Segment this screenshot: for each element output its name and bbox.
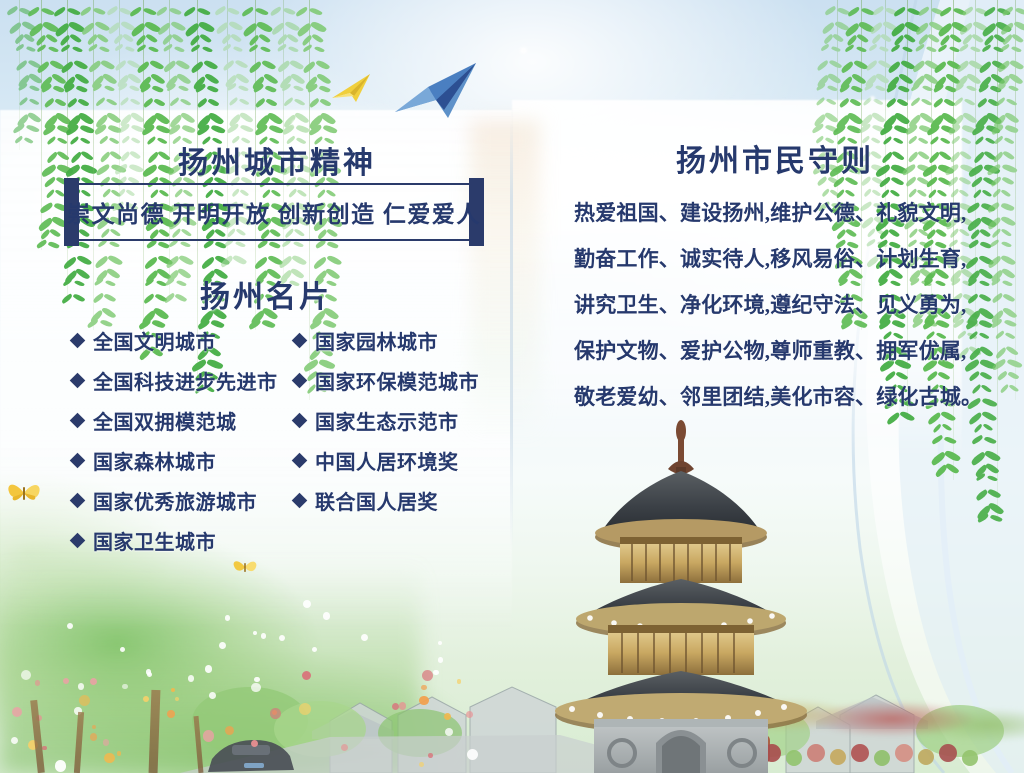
blossom xyxy=(422,670,434,682)
white-flower xyxy=(438,641,442,645)
sparkle-dot xyxy=(292,120,298,126)
white-flower xyxy=(323,612,331,620)
blossom xyxy=(419,696,428,705)
sparkle-dot xyxy=(520,47,527,54)
white-flower xyxy=(312,647,317,652)
rule-line: 讲究卫生、净化环境,遵纪守法、见义勇为, xyxy=(574,282,974,328)
blossom xyxy=(122,684,128,690)
card-item-label: 全国科技进步先进市 xyxy=(93,366,278,395)
blossom xyxy=(78,683,84,689)
cards-title: 扬州名片 xyxy=(200,272,332,316)
rules-title: 扬州市民守则 xyxy=(676,136,874,180)
rule-line: 勤奋工作、诚实待人,移风易俗、计划生育, xyxy=(574,236,974,282)
blossom xyxy=(299,703,311,715)
white-flower xyxy=(438,657,444,663)
cards-column-left: 全国文明城市全国科技进步先进市全国双拥模范城国家森林城市国家优秀旅游城市国家卫生… xyxy=(72,320,297,560)
cards-column-right: 国家园林城市国家环保模范城市国家生态示范市中国人居环境奖联合国人居奖 xyxy=(294,320,504,520)
blossom xyxy=(175,697,179,701)
card-item-label: 联合国人居奖 xyxy=(315,486,438,515)
butterfly-icon xyxy=(6,478,42,511)
blossom xyxy=(143,696,149,702)
white-flower xyxy=(225,615,231,621)
blossom xyxy=(421,685,427,691)
blossom xyxy=(42,746,47,751)
card-item-label: 全国文明城市 xyxy=(93,326,216,355)
card-item: 国家园林城市 xyxy=(294,320,504,360)
blossom xyxy=(457,679,462,684)
card-item-label: 中国人居环境奖 xyxy=(315,446,459,475)
poster-canvas: 扬州城市精神 崇文尚德 开明开放 创新创造 仁爱爱人 扬州名片 全国文明城市全国… xyxy=(0,0,1024,773)
blossom xyxy=(466,711,473,718)
sparkle-dot xyxy=(355,112,359,116)
sparkle-dot xyxy=(610,120,614,124)
card-item-label: 国家优秀旅游城市 xyxy=(93,486,257,515)
rule-line: 敬老爱幼、邻里团结,美化市容、绿化古城。 xyxy=(574,374,974,420)
rules-text: 热爱祖国、建设扬州,维护公德、礼貌文明,勤奋工作、诚实待人,移风易俗、计划生育,… xyxy=(574,190,974,420)
tree-trunk xyxy=(30,700,45,773)
diamond-bullet-icon xyxy=(70,452,86,468)
blossom xyxy=(11,737,18,744)
card-item: 国家优秀旅游城市 xyxy=(72,480,297,520)
blossom xyxy=(251,683,261,693)
rule-line: 热爱祖国、建设扬州,维护公德、礼貌文明, xyxy=(574,190,974,236)
card-item: 国家生态示范市 xyxy=(294,400,504,440)
white-flower xyxy=(279,635,285,641)
diamond-bullet-icon xyxy=(70,412,86,428)
diamond-bullet-icon xyxy=(292,492,308,508)
card-item-label: 国家园林城市 xyxy=(315,326,438,355)
blossom xyxy=(302,671,312,681)
diamond-bullet-icon xyxy=(70,372,86,388)
blossom xyxy=(445,728,453,736)
blossom xyxy=(117,751,122,756)
blossom xyxy=(209,692,216,699)
blossom xyxy=(90,678,97,685)
card-item: 联合国人居奖 xyxy=(294,480,504,520)
blossom xyxy=(92,725,96,729)
card-item: 全国科技进步先进市 xyxy=(72,360,297,400)
card-item-label: 国家生态示范市 xyxy=(315,406,459,435)
spirit-title: 扬州城市精神 xyxy=(178,138,376,182)
blossom xyxy=(35,680,40,685)
white-flower xyxy=(254,677,259,682)
blossom xyxy=(419,762,424,767)
white-flower xyxy=(219,642,226,649)
blossom xyxy=(79,695,90,706)
blossom xyxy=(270,708,281,719)
white-flower xyxy=(67,623,73,629)
white-flower xyxy=(147,672,153,678)
blossom xyxy=(225,726,234,735)
blossom xyxy=(21,670,31,680)
blossom xyxy=(12,707,22,717)
blossom xyxy=(90,733,97,740)
white-flower xyxy=(253,631,257,635)
tree-trunk xyxy=(149,690,161,773)
card-item: 国家卫生城市 xyxy=(72,520,297,560)
card-item: 全国文明城市 xyxy=(72,320,297,360)
white-flower xyxy=(361,634,368,641)
card-item-label: 国家环保模范城市 xyxy=(315,366,479,395)
blossom xyxy=(428,753,433,758)
diamond-bullet-icon xyxy=(70,492,86,508)
blossom xyxy=(55,760,66,771)
diamond-bullet-icon xyxy=(292,412,308,428)
white-flower xyxy=(303,600,311,608)
rule-line: 保护文物、爱护公物,尊师重教、拥军优属, xyxy=(574,328,974,374)
blossom xyxy=(63,678,69,684)
diamond-bullet-icon xyxy=(292,372,308,388)
tree-trunk xyxy=(194,716,204,773)
card-item-label: 国家森林城市 xyxy=(93,446,216,475)
blossom xyxy=(341,744,348,751)
white-flower xyxy=(205,665,213,673)
sparkle-dot xyxy=(870,96,875,101)
white-flower xyxy=(433,670,439,676)
blossom xyxy=(392,703,400,711)
blossom xyxy=(171,688,176,693)
blossom xyxy=(188,675,194,681)
white-flower xyxy=(261,633,267,639)
card-item-label: 全国双拥模范城 xyxy=(93,406,237,435)
tree-trunk xyxy=(74,712,84,773)
blossom xyxy=(444,713,451,720)
blossom xyxy=(203,730,215,742)
blossom xyxy=(103,739,110,746)
motto-banner: 崇文尚德 开明开放 创新创造 仁爱爱人 xyxy=(64,183,484,241)
blossom xyxy=(104,753,114,763)
blossom xyxy=(167,710,175,718)
diamond-bullet-icon xyxy=(70,532,86,548)
card-item: 国家森林城市 xyxy=(72,440,297,480)
blossom xyxy=(251,740,258,747)
card-item-label: 国家卫生城市 xyxy=(93,526,216,555)
card-item: 国家环保模范城市 xyxy=(294,360,504,400)
card-item: 全国双拥模范城 xyxy=(72,400,297,440)
diamond-bullet-icon xyxy=(292,332,308,348)
blossom xyxy=(399,702,407,710)
card-item: 中国人居环境奖 xyxy=(294,440,504,480)
motto-text: 崇文尚德 开明开放 创新创造 仁爱爱人 xyxy=(79,183,469,241)
diamond-bullet-icon xyxy=(70,332,86,348)
white-flower xyxy=(120,647,125,652)
blossom xyxy=(467,749,478,760)
diamond-bullet-icon xyxy=(292,452,308,468)
